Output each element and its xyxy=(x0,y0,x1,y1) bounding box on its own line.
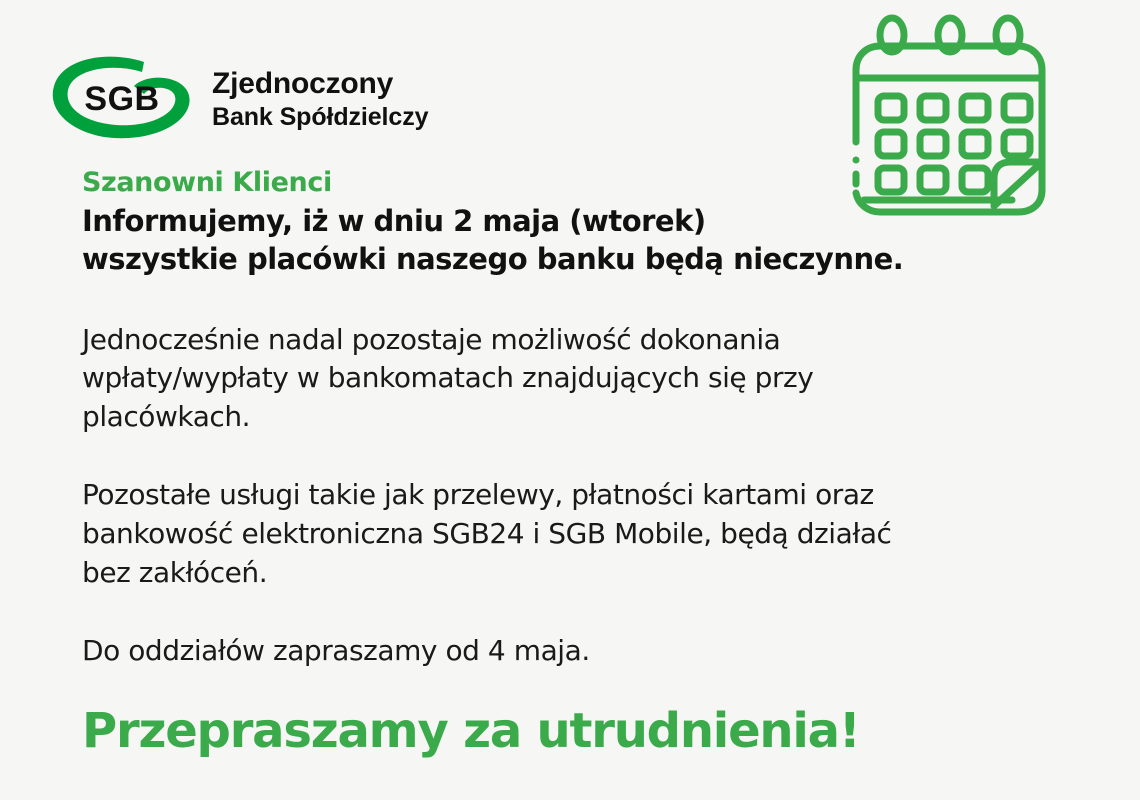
apology-message: Przepraszamy za utrudnienia! xyxy=(82,705,1062,758)
spacer xyxy=(82,279,1062,321)
notice-poster: SGB Zjednoczony Bank Spółdzielczy xyxy=(0,0,1140,800)
bank-name-line-2: Bank Spółdzielczy xyxy=(212,104,428,130)
paragraph-reopening: Do oddziałów zapraszamy od 4 maja. xyxy=(82,632,1062,671)
spacer xyxy=(82,671,1062,705)
spacer xyxy=(82,436,1062,476)
paragraph-reopening-line-1: Do oddziałów zapraszamy od 4 maja. xyxy=(82,632,1062,671)
sgb-swoosh-logo-icon: SGB xyxy=(48,52,196,144)
headline-line-1: Informujemy, iż w dniu 2 maja (wtorek) xyxy=(82,203,1062,241)
paragraph-atm-line-2: wpłaty/wypłaty w bankomatach znajdującyc… xyxy=(82,359,1062,398)
paragraph-services-line-1: Pozostałe usługi takie jak przelewy, pła… xyxy=(82,476,1062,515)
paragraph-services-line-2: bankowość elektroniczna SGB24 i SGB Mobi… xyxy=(82,515,1062,554)
bank-logo: SGB Zjednoczony Bank Spółdzielczy xyxy=(48,52,428,144)
spacer xyxy=(82,592,1062,632)
paragraph-services: Pozostałe usługi takie jak przelewy, pła… xyxy=(82,476,1062,592)
headline: Informujemy, iż w dniu 2 maja (wtorek) w… xyxy=(82,203,1062,278)
bank-wordmark: Zjednoczony Bank Spółdzielczy xyxy=(212,66,428,130)
paragraph-atm: Jednocześnie nadal pozostaje możliwość d… xyxy=(82,321,1062,437)
paragraph-atm-line-1: Jednocześnie nadal pozostaje możliwość d… xyxy=(82,321,1062,360)
paragraph-services-line-3: bez zakłóceń. xyxy=(82,554,1062,593)
salutation: Szanowni Klienci xyxy=(82,168,1062,198)
bank-name-line-1: Zjednoczony xyxy=(212,68,428,100)
svg-text:SGB: SGB xyxy=(84,80,159,118)
paragraph-atm-line-3: placówkach. xyxy=(82,398,1062,437)
headline-line-2: wszystkie placówki naszego banku będą ni… xyxy=(82,241,1062,279)
notice-content: Szanowni Klienci Informujemy, iż w dniu … xyxy=(82,168,1062,758)
